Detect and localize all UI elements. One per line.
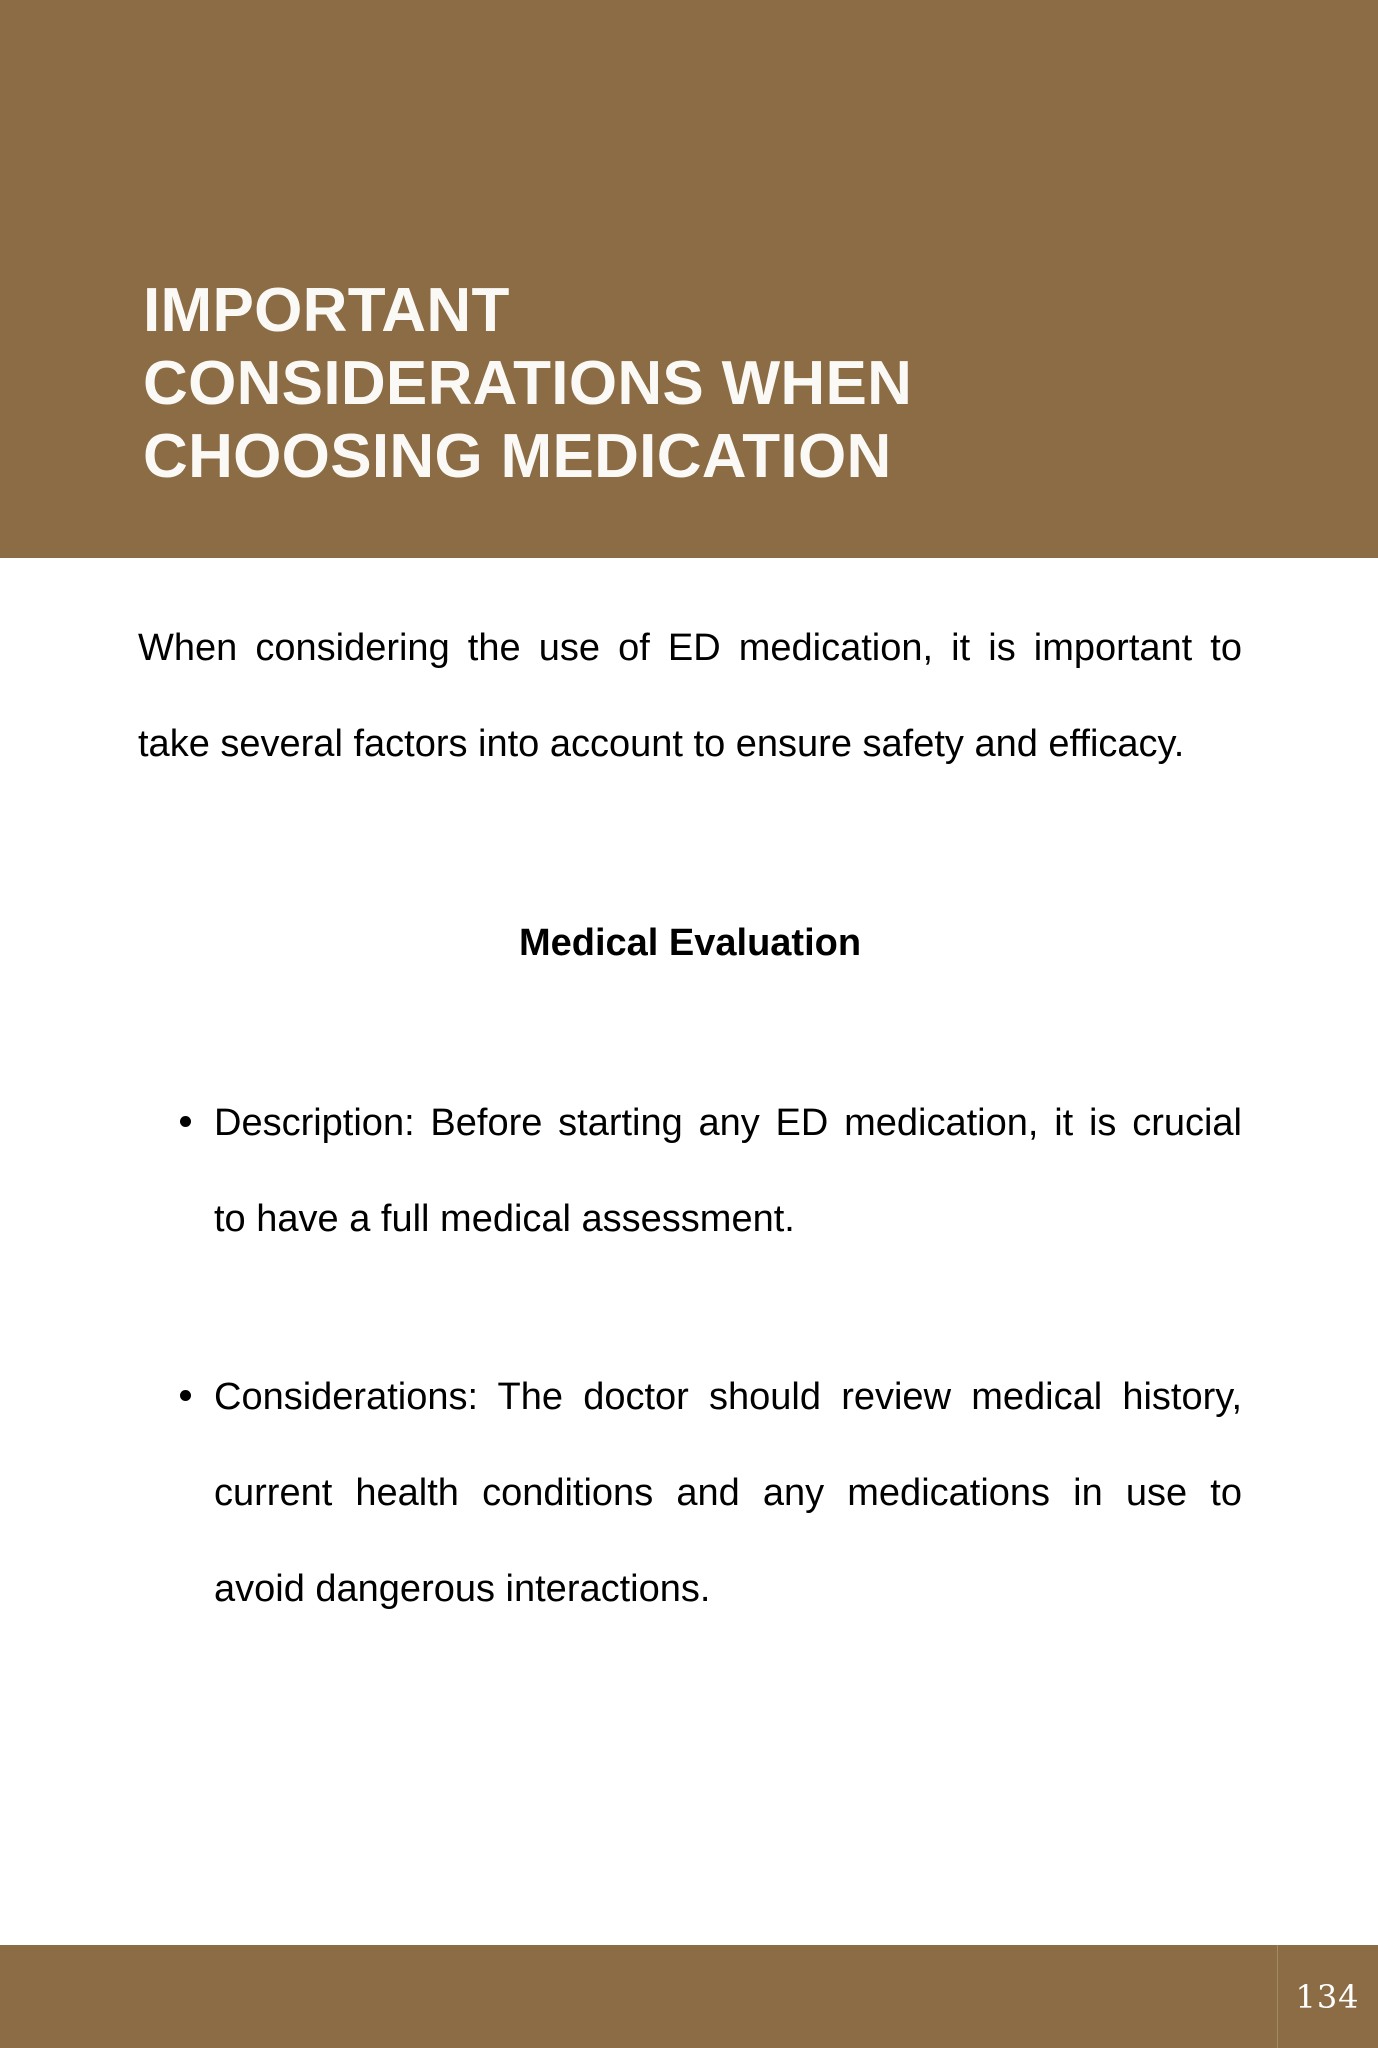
intro-paragraph: When considering the use of ED medicatio…	[138, 600, 1242, 792]
bullet-dot-icon	[180, 1116, 191, 1127]
bullet-dot-icon	[180, 1390, 191, 1401]
page-number: 134	[1277, 1945, 1378, 2048]
list-item: Description: Before starting any ED medi…	[138, 1075, 1242, 1267]
bullet-list: Description: Before starting any ED medi…	[138, 965, 1242, 1637]
page-title: IMPORTANT CONSIDERATIONS WHEN CHOOSING M…	[143, 274, 1143, 493]
list-item: Considerations: The doctor should review…	[138, 1349, 1242, 1637]
section-heading: Medical Evaluation	[138, 792, 1242, 965]
list-item-text: Description: Before starting any ED medi…	[214, 1102, 1242, 1240]
page: IMPORTANT CONSIDERATIONS WHEN CHOOSING M…	[0, 0, 1378, 2048]
footer-band	[0, 1945, 1378, 2048]
list-item-text: Considerations: The doctor should review…	[214, 1376, 1242, 1610]
header-band: IMPORTANT CONSIDERATIONS WHEN CHOOSING M…	[0, 0, 1378, 558]
page-content: When considering the use of ED medicatio…	[138, 600, 1242, 1637]
